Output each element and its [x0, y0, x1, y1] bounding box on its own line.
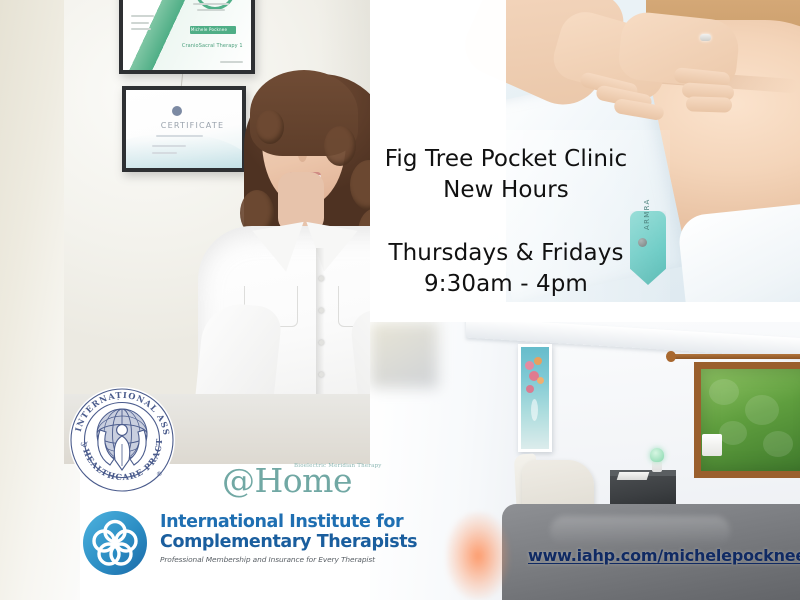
collar-right — [298, 222, 357, 276]
hours-times: 9:30am - 4pm — [356, 269, 656, 300]
athome-tagline: Bioelectric Meridian Therapy — [294, 463, 382, 469]
hours-days: Thursdays & Fridays — [356, 238, 656, 269]
window — [694, 362, 800, 478]
promotional-poster: Michele Pocknee CranioSacral Therapy 1 C… — [0, 0, 800, 600]
iict-line-1: International Institute for — [160, 512, 372, 532]
svg-text:·: · — [117, 396, 119, 404]
hours-block: Thursdays & Fridays 9:30am - 4pm — [356, 238, 656, 300]
athome-logo: @Home Bioelectric Meridian Therapy — [222, 462, 372, 506]
headline-line-2: New Hours — [356, 175, 656, 206]
iahp-logo: INTERNATIONAL ASSOCIATION HEALTHCARE PRA… — [68, 386, 176, 494]
iict-wordmark: International Institute for Complementar… — [160, 512, 372, 564]
wedding-ring — [700, 34, 711, 41]
foreground-blur — [370, 322, 438, 388]
iict-mark — [82, 510, 148, 576]
bed-highlight — [550, 516, 730, 546]
framed-artwork — [518, 344, 552, 452]
headline-block: Fig Tree Pocket Clinic New Hours — [356, 144, 656, 206]
iahp-seal-svg: INTERNATIONAL ASSOCIATION HEALTHCARE PRA… — [68, 386, 176, 494]
table-lamp — [650, 448, 664, 462]
tray-on-table — [617, 472, 650, 480]
iict-tagline: Professional Membership and Insurance fo… — [160, 555, 372, 564]
heat-lamp-glow — [446, 512, 510, 600]
headline-line-1: Fig Tree Pocket Clinic — [356, 144, 656, 175]
website-url[interactable]: www.iahp.com/michelepocknee — [528, 546, 800, 565]
iict-line-2: Complementary Therapists — [160, 532, 372, 552]
curtain-rod — [670, 354, 800, 359]
iict-logo: International Institute for Complementar… — [82, 508, 372, 580]
certificate-name: Michele Pocknee — [191, 27, 227, 32]
candles — [702, 434, 722, 456]
athome-at-symbol: @ — [222, 461, 255, 500]
iahp-registered-mark: ® — [156, 470, 163, 478]
curtain-rod-finial — [666, 351, 676, 362]
iict-knot-icon — [82, 510, 148, 576]
